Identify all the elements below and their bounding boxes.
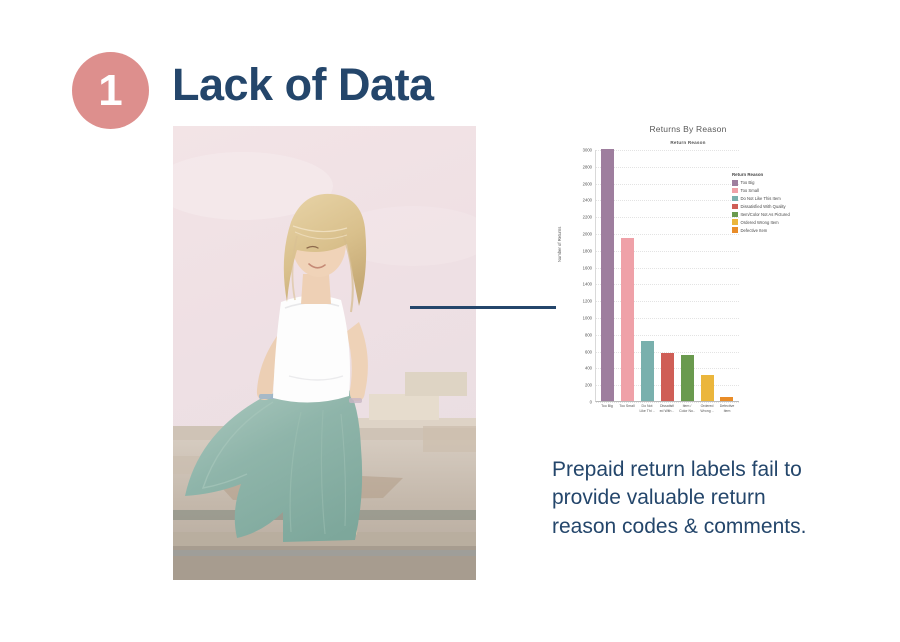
- x-tick-label: Do Not Like Thi ..: [639, 404, 656, 413]
- y-axis-ticks: 3000280026002400220020001800160014001200…: [564, 150, 594, 402]
- legend-label: Dissatisfied With Quality: [741, 204, 786, 209]
- y-tick-label: 400: [585, 366, 592, 371]
- y-tick-label: 800: [585, 332, 592, 337]
- legend-item[interactable]: Do Not Like This Item: [732, 196, 822, 202]
- y-axis-label: Number of Returns: [557, 227, 562, 262]
- plot-canvas: [595, 150, 739, 402]
- caption-text: Prepaid return labels fail to provide va…: [552, 456, 822, 541]
- legend-items: Too BigToo SmallDo Not Like This ItemDis…: [732, 180, 822, 233]
- legend-item[interactable]: Dissatisfied With Quality: [732, 204, 822, 210]
- bar: [641, 341, 654, 401]
- legend-title: Return Reason: [732, 172, 822, 177]
- y-tick-label: 2400: [583, 198, 592, 203]
- legend-label: Item/Color Not As Pictured: [741, 212, 790, 217]
- step-number-badge: 1: [72, 52, 149, 129]
- bar: [601, 149, 614, 401]
- legend-label: Defective Item: [741, 228, 768, 233]
- legend-item[interactable]: Item/Color Not As Pictured: [732, 212, 822, 218]
- y-tick-label: 1200: [583, 299, 592, 304]
- legend-item[interactable]: Defective Item: [732, 227, 822, 233]
- y-tick-label: 1400: [583, 282, 592, 287]
- photo-illustration: [173, 126, 476, 580]
- hero-photo: [173, 126, 476, 580]
- legend-swatch-icon: [732, 180, 738, 186]
- y-tick-label: 1600: [583, 265, 592, 270]
- legend-swatch-icon: [732, 212, 738, 218]
- legend-label: Do Not Like This Item: [741, 196, 781, 201]
- legend-item[interactable]: Ordered Wrong Item: [732, 219, 822, 225]
- bar: [681, 355, 694, 401]
- y-tick-label: 1000: [583, 316, 592, 321]
- x-tick-label: Defective Item: [719, 404, 736, 413]
- y-tick-label: 200: [585, 383, 592, 388]
- y-tick-label: 2600: [583, 181, 592, 186]
- legend-item[interactable]: Too Big: [732, 180, 822, 186]
- bar-series: [596, 150, 739, 401]
- y-tick-label: 2800: [583, 164, 592, 169]
- bar: [661, 353, 674, 401]
- chart-legend: Return Reason Too BigToo SmallDo Not Lik…: [732, 172, 822, 235]
- x-tick-label: Ordered Wrong ..: [699, 404, 716, 413]
- y-tick-label: 600: [585, 349, 592, 354]
- bar: [720, 397, 733, 401]
- legend-swatch-icon: [732, 219, 738, 225]
- y-tick-label: 2000: [583, 232, 592, 237]
- plot-area: Number of Returns 3000280026002400220020…: [556, 150, 820, 422]
- slide-root: 1 Lack of Data: [0, 0, 900, 642]
- x-tick-label: Item / Color No..: [679, 404, 696, 413]
- connector-line: [410, 306, 562, 309]
- bar: [701, 375, 714, 401]
- y-tick-label: 1800: [583, 248, 592, 253]
- y-tick-label: 0: [590, 400, 592, 405]
- x-axis-ticks: Too BigToo SmallDo Not Like Thi ..Dissat…: [595, 404, 739, 413]
- y-tick-label: 2200: [583, 215, 592, 220]
- legend-label: Ordered Wrong Item: [741, 220, 779, 225]
- legend-swatch-icon: [732, 227, 738, 233]
- bar: [621, 238, 634, 401]
- legend-label: Too Small: [741, 188, 759, 193]
- y-tick-label: 3000: [583, 148, 592, 153]
- page-title: Lack of Data: [172, 59, 434, 111]
- legend-swatch-icon: [732, 196, 738, 202]
- chart-subtitle: Return Reason: [556, 140, 820, 145]
- step-number-label: 1: [98, 69, 122, 113]
- x-tick-label: Too Big: [599, 404, 616, 413]
- gridline: [596, 402, 739, 403]
- legend-swatch-icon: [732, 188, 738, 194]
- legend-item[interactable]: Too Small: [732, 188, 822, 194]
- returns-by-reason-chart: Returns By Reason Return Reason Number o…: [556, 122, 820, 442]
- legend-swatch-icon: [732, 204, 738, 210]
- chart-title: Returns By Reason: [556, 124, 820, 134]
- x-tick-label: Dissatisfi ed With ..: [659, 404, 676, 413]
- x-tick-label: Too Small: [619, 404, 636, 413]
- legend-label: Too Big: [741, 180, 755, 185]
